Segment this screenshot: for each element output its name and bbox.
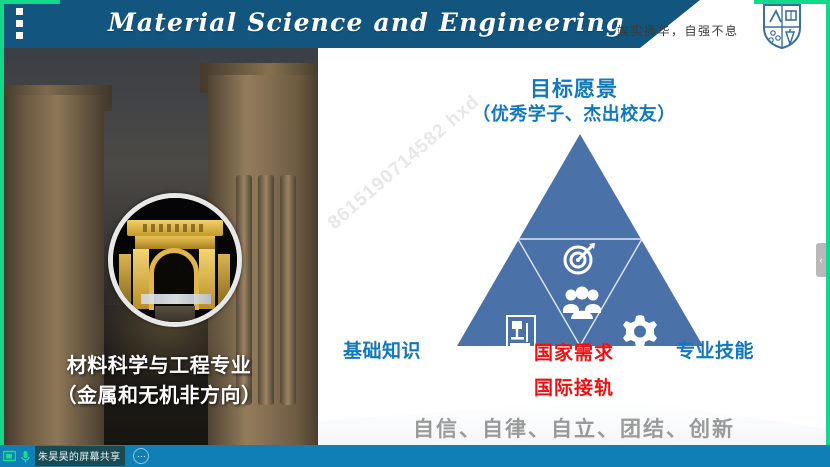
- background-lights: [141, 294, 211, 304]
- screen-share-window: Material Science and Engineering 竢实扬华，自强…: [0, 0, 830, 467]
- national-need-text: 国家需求: [318, 338, 830, 365]
- campus-photo-panel: 材料科学与工程专业 （金属和无机非方向）: [0, 55, 318, 445]
- share-border-top-right: [754, 0, 830, 4]
- university-crest-shield-icon: [760, 2, 804, 50]
- university-motto: 竢实扬华，自强不息: [617, 22, 739, 39]
- header-dark-strip: [0, 48, 318, 57]
- slide-footer-motto: 自信、自律、自立、团结、创新: [318, 413, 830, 443]
- screen-share-icon[interactable]: [3, 450, 16, 463]
- chevron-left-icon[interactable]: ‹: [816, 243, 826, 277]
- more-options-button[interactable]: ···: [133, 448, 149, 464]
- page-title: Material Science and Engineering: [108, 8, 625, 37]
- screen-share-statusbar: 朱昊昊的屏幕共享 ···: [0, 445, 830, 467]
- international-standards-text: 国际接轨: [318, 373, 830, 400]
- gate-pillar-outer-left: [119, 254, 131, 306]
- vision-title: 目标愿景: [318, 73, 830, 103]
- pyramid-diagram: [457, 134, 703, 346]
- photo-caption-line1: 材料科学与工程专业: [0, 351, 318, 381]
- share-border-top-left: [0, 0, 60, 4]
- share-border-right: [826, 0, 830, 445]
- pyramid-shape: [457, 134, 703, 346]
- gate-road: [155, 306, 195, 327]
- photo-caption: 材料科学与工程专业 （金属和无机非方向）: [0, 351, 318, 411]
- share-owner-label: 朱昊昊的屏幕共享: [35, 446, 125, 466]
- vision-subtitle: （优秀学子、杰出校友）: [318, 100, 830, 126]
- share-border-left: [0, 0, 4, 445]
- campus-gate-night-photo: [108, 193, 242, 327]
- statusbar-left-group: 朱昊昊的屏幕共享 ···: [0, 446, 149, 466]
- gate-pillar-outer-right: [218, 254, 230, 306]
- gate-sign-text: [143, 224, 207, 232]
- slide-content: 8615190714582 hxd 目标愿景 （优秀学子、杰出校友）: [318, 48, 830, 445]
- slide-header: Material Science and Engineering 竢实扬华，自强…: [0, 0, 830, 48]
- square-bullets-icon: [16, 8, 23, 39]
- microphone-icon[interactable]: [19, 450, 32, 463]
- photo-caption-line2: （金属和无机非方向）: [0, 381, 318, 411]
